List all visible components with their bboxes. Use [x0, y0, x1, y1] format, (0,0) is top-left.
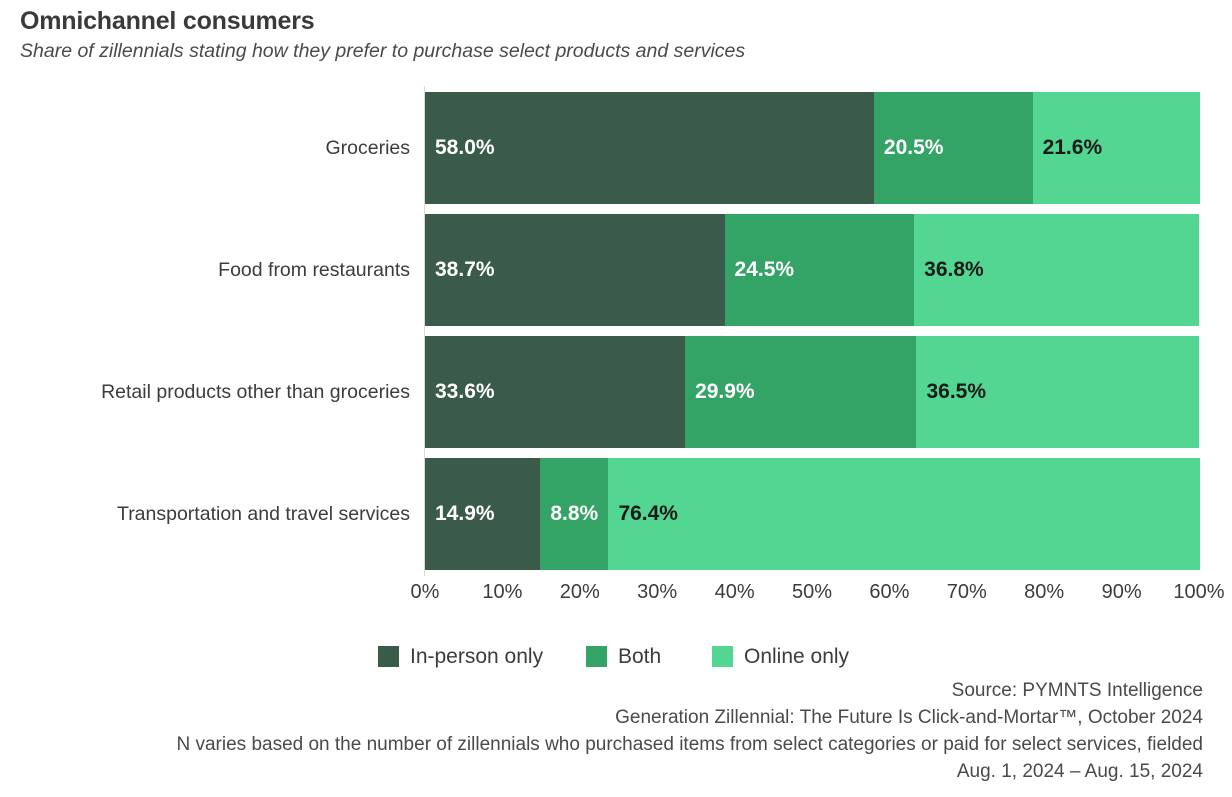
- bar-value-label: 8.8%: [550, 458, 598, 570]
- chart-header: Omnichannel consumers Share of zillennia…: [20, 6, 1210, 64]
- bar-segment-online[interactable]: 76.4%: [608, 458, 1199, 570]
- bar-segment-both[interactable]: 29.9%: [685, 336, 916, 448]
- chart-footnotes: Source: PYMNTS IntelligenceGeneration Zi…: [20, 677, 1203, 785]
- chart-plot-area: Groceries58.0%20.5%21.6%Food from restau…: [0, 86, 1232, 576]
- bar-value-label: 14.9%: [435, 458, 495, 570]
- bar-segment-inperson[interactable]: 38.7%: [425, 214, 725, 326]
- category-label: Retail products other than groceries: [0, 336, 410, 448]
- bar-value-label: 76.4%: [618, 458, 678, 570]
- bar-segment-inperson[interactable]: 33.6%: [425, 336, 685, 448]
- bar-value-label: 29.9%: [695, 336, 755, 448]
- legend-item-in-person-only[interactable]: In-person only: [378, 640, 543, 672]
- x-axis-tick-label: 20%: [560, 578, 600, 606]
- x-axis-tick-label: 40%: [715, 578, 755, 606]
- bar-segment-both[interactable]: 8.8%: [540, 458, 608, 570]
- x-axis-tick-label: 60%: [869, 578, 909, 606]
- bar-track: 33.6%29.9%36.5%: [425, 336, 1199, 448]
- bar-track: 38.7%24.5%36.8%: [425, 214, 1199, 326]
- page-title: Omnichannel consumers: [20, 6, 1210, 36]
- x-axis: 0%10%20%30%40%50%60%70%80%90%100%: [0, 578, 1232, 610]
- bar-row: Food from restaurants38.7%24.5%36.8%: [0, 214, 1232, 326]
- bar-value-label: 20.5%: [884, 92, 944, 204]
- bar-row: Groceries58.0%20.5%21.6%: [0, 92, 1232, 204]
- x-axis-tick-label: 70%: [947, 578, 987, 606]
- bar-track: 58.0%20.5%21.6%: [425, 92, 1199, 204]
- bar-value-label: 36.8%: [924, 214, 984, 326]
- footnote-line: N varies based on the number of zillenni…: [20, 731, 1203, 758]
- bar-row: Retail products other than groceries33.6…: [0, 336, 1232, 448]
- x-axis-tick-label: 30%: [637, 578, 677, 606]
- legend-label: Online only: [744, 646, 849, 667]
- footnote-line: Generation Zillennial: The Future Is Cli…: [20, 704, 1203, 731]
- x-axis-tick-label: 50%: [792, 578, 832, 606]
- bar-value-label: 38.7%: [435, 214, 495, 326]
- bar-row: Transportation and travel services14.9%8…: [0, 458, 1232, 570]
- bar-segment-both[interactable]: 24.5%: [725, 214, 915, 326]
- legend-swatch-icon: [378, 646, 399, 667]
- footnote-line: Source: PYMNTS Intelligence: [20, 677, 1203, 704]
- category-label: Transportation and travel services: [0, 458, 410, 570]
- bar-segment-both[interactable]: 20.5%: [874, 92, 1033, 204]
- bar-value-label: 21.6%: [1043, 92, 1103, 204]
- bar-value-label: 36.5%: [926, 336, 986, 448]
- legend-label: In-person only: [410, 646, 543, 667]
- footnote-line: Aug. 1, 2024 – Aug. 15, 2024: [20, 758, 1203, 785]
- category-label: Groceries: [0, 92, 410, 204]
- legend-item-both[interactable]: Both: [586, 640, 661, 672]
- bar-segment-inperson[interactable]: 14.9%: [425, 458, 540, 570]
- x-axis-tick-label: 80%: [1024, 578, 1064, 606]
- bar-value-label: 33.6%: [435, 336, 495, 448]
- category-label: Food from restaurants: [0, 214, 410, 326]
- legend-swatch-icon: [586, 646, 607, 667]
- legend-swatch-icon: [712, 646, 733, 667]
- x-axis-tick-label: 10%: [482, 578, 522, 606]
- x-axis-tick-label: 0%: [411, 578, 440, 606]
- chart-legend: In-person onlyBothOnline only: [0, 640, 1232, 674]
- bar-value-label: 58.0%: [435, 92, 495, 204]
- x-axis-tick-label: 90%: [1102, 578, 1142, 606]
- chart-subtitle: Share of zillennials stating how they pr…: [20, 38, 1210, 64]
- legend-item-online-only[interactable]: Online only: [712, 640, 849, 672]
- legend-label: Both: [618, 646, 661, 667]
- bar-segment-inperson[interactable]: 58.0%: [425, 92, 874, 204]
- x-axis-tick-label: 100%: [1173, 578, 1224, 606]
- bar-segment-online[interactable]: 36.8%: [914, 214, 1199, 326]
- bar-track: 14.9%8.8%76.4%: [425, 458, 1199, 570]
- bar-segment-online[interactable]: 36.5%: [916, 336, 1199, 448]
- bar-value-label: 24.5%: [735, 214, 795, 326]
- bar-segment-online[interactable]: 21.6%: [1033, 92, 1200, 204]
